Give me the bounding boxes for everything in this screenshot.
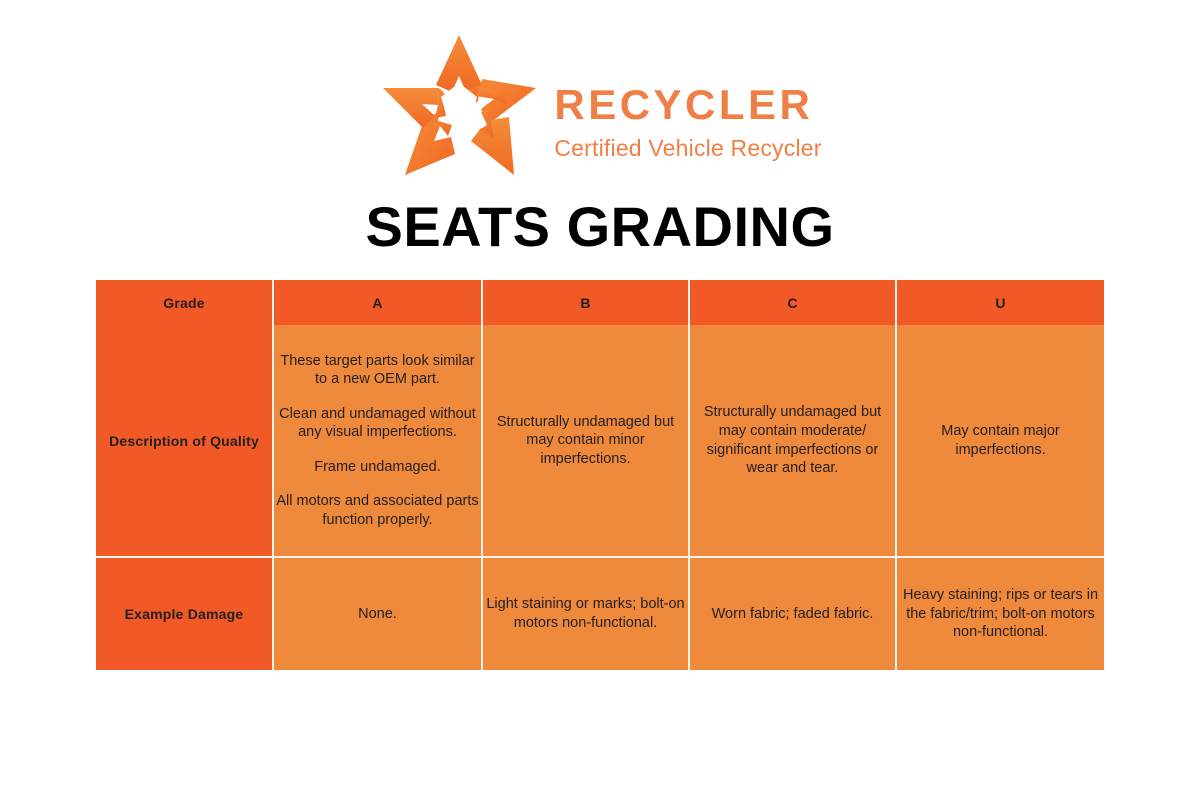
cell-description-b: Structurally undamaged but may contain m… (483, 325, 690, 558)
cell-paragraph: All motors and associated parts function… (274, 492, 481, 529)
cell-paragraph: Structurally undamaged but may contain m… (690, 403, 895, 477)
cell-paragraph: Structurally undamaged but may contain m… (483, 413, 688, 469)
table-row: Example Damage None. Light staining or m… (96, 558, 1104, 670)
column-header-c: C (690, 280, 897, 325)
cell-paragraph: Heavy staining; rips or tears in the fab… (897, 586, 1104, 642)
cell-paragraph: May contain major imperfections. (897, 422, 1104, 459)
cell-example-c: Worn fabric; faded fabric. (690, 558, 897, 670)
row-header-example-damage: Example Damage (96, 558, 274, 670)
cell-description-u: May contain major imperfections. (897, 325, 1104, 558)
cell-example-b: Light staining or marks; bolt-on motors … (483, 558, 690, 670)
cell-paragraph: Worn fabric; faded fabric. (690, 605, 895, 624)
seats-grading-table: Grade A B C U Description of Quality The… (96, 280, 1104, 670)
cell-description-a: These target parts look similar to a new… (274, 325, 483, 558)
row-header-description-of-quality: Description of Quality (96, 325, 274, 558)
cell-paragraph: Light staining or marks; bolt-on motors … (483, 595, 688, 632)
page-title: SEATS GRADING (0, 196, 1200, 258)
cell-example-a: None. (274, 558, 483, 670)
cell-paragraph: Frame undamaged. (274, 458, 481, 477)
table-header-row: Grade A B C U (96, 280, 1104, 325)
column-header-u: U (897, 280, 1104, 325)
table-row: Description of Quality These target part… (96, 325, 1104, 558)
cell-paragraph: Clean and undamaged without any visual i… (274, 405, 481, 442)
cell-paragraph: These target parts look similar to a new… (274, 352, 481, 389)
column-header-a: A (274, 280, 483, 325)
column-header-grade: Grade (96, 280, 274, 325)
brand-logo: RECYCLER Certified Vehicle Recycler (0, 30, 1200, 180)
logo-subtitle: Certified Vehicle Recycler (554, 137, 821, 160)
cell-description-c: Structurally undamaged but may contain m… (690, 325, 897, 558)
column-header-b: B (483, 280, 690, 325)
cell-example-u: Heavy staining; rips or tears in the fab… (897, 558, 1104, 670)
cell-paragraph: None. (274, 605, 481, 624)
logo-title: RECYCLER (554, 84, 821, 126)
recycling-star-icon (378, 31, 540, 179)
